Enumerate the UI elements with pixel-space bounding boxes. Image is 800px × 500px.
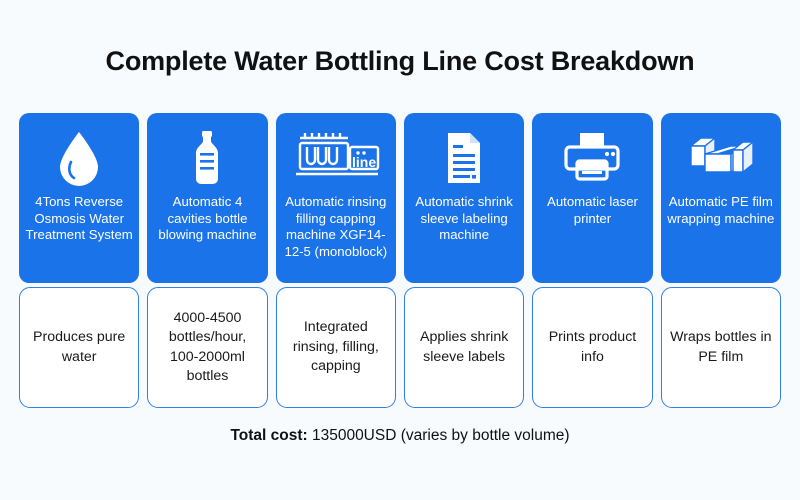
card-description: Prints product info: [539, 328, 645, 367]
card-description: Produces pure water: [26, 328, 132, 367]
page-title: Complete Water Bottling Line Cost Breakd…: [0, 46, 800, 77]
card-description: Integrated rinsing, filling, capping: [283, 318, 389, 377]
card-reverse-osmosis[interactable]: 4Tons Reverse Osmosis Water Treatment Sy…: [19, 113, 139, 408]
card-bottle-blowing[interactable]: Automatic 4 cavities bottle blowing mach…: [147, 113, 267, 408]
card-laser-printer[interactable]: Automatic laser printer Prints product i…: [532, 113, 652, 408]
card-header: Automatic shrink sleeve labeling machine: [404, 113, 524, 283]
card-description: Wraps bottles in PE film: [668, 328, 774, 367]
card-description: Applies shrink sleeve labels: [411, 328, 517, 367]
filling-line-icon-label: line: [352, 154, 376, 170]
card-body: Applies shrink sleeve labels: [404, 287, 524, 408]
water-drop-icon: [56, 127, 102, 189]
card-body: Produces pure water: [19, 287, 139, 408]
water-bottle-icon: [187, 127, 227, 189]
card-body: Prints product info: [532, 287, 652, 408]
card-title: 4Tons Reverse Osmosis Water Treatment Sy…: [19, 194, 139, 244]
wrapped-boxes-icon: [687, 127, 755, 189]
card-shrink-sleeve-labeling[interactable]: Automatic shrink sleeve labeling machine…: [404, 113, 524, 408]
card-header: Automatic 4 cavities bottle blowing mach…: [147, 113, 267, 283]
card-body: Integrated rinsing, filling, capping: [276, 287, 396, 408]
card-title: Automatic shrink sleeve labeling machine: [404, 194, 524, 244]
total-cost-label: Total cost:: [230, 427, 307, 444]
printer-icon: [562, 127, 622, 189]
card-description: 4000-4500 bottles/hour, 100-2000ml bottl…: [154, 309, 260, 387]
card-body: 4000-4500 bottles/hour, 100-2000ml bottl…: [147, 287, 267, 408]
card-title: Automatic rinsing filling capping machin…: [276, 194, 396, 260]
cards-row: 4Tons Reverse Osmosis Water Treatment Sy…: [19, 113, 781, 408]
card-header: 4Tons Reverse Osmosis Water Treatment Sy…: [19, 113, 139, 283]
filling-line-icon: line: [290, 127, 382, 189]
card-title: Automatic 4 cavities bottle blowing mach…: [147, 194, 267, 244]
card-header: Automatic PE film wrapping machine: [661, 113, 781, 283]
card-header: Automatic laser printer: [532, 113, 652, 283]
card-title: Automatic laser printer: [532, 194, 652, 227]
total-cost-value: 135000USD (varies by bottle volume): [308, 427, 570, 444]
total-cost: Total cost: 135000USD (varies by bottle …: [0, 427, 800, 445]
card-body: Wraps bottles in PE film: [661, 287, 781, 408]
card-rinsing-filling-capping[interactable]: line Automatic rinsing filling capping m…: [276, 113, 396, 408]
card-title: Automatic PE film wrapping machine: [661, 194, 781, 227]
card-pe-film-wrapping[interactable]: Automatic PE film wrapping machine Wraps…: [661, 113, 781, 408]
card-header: line Automatic rinsing filling capping m…: [276, 113, 396, 283]
label-document-icon: [442, 127, 486, 189]
